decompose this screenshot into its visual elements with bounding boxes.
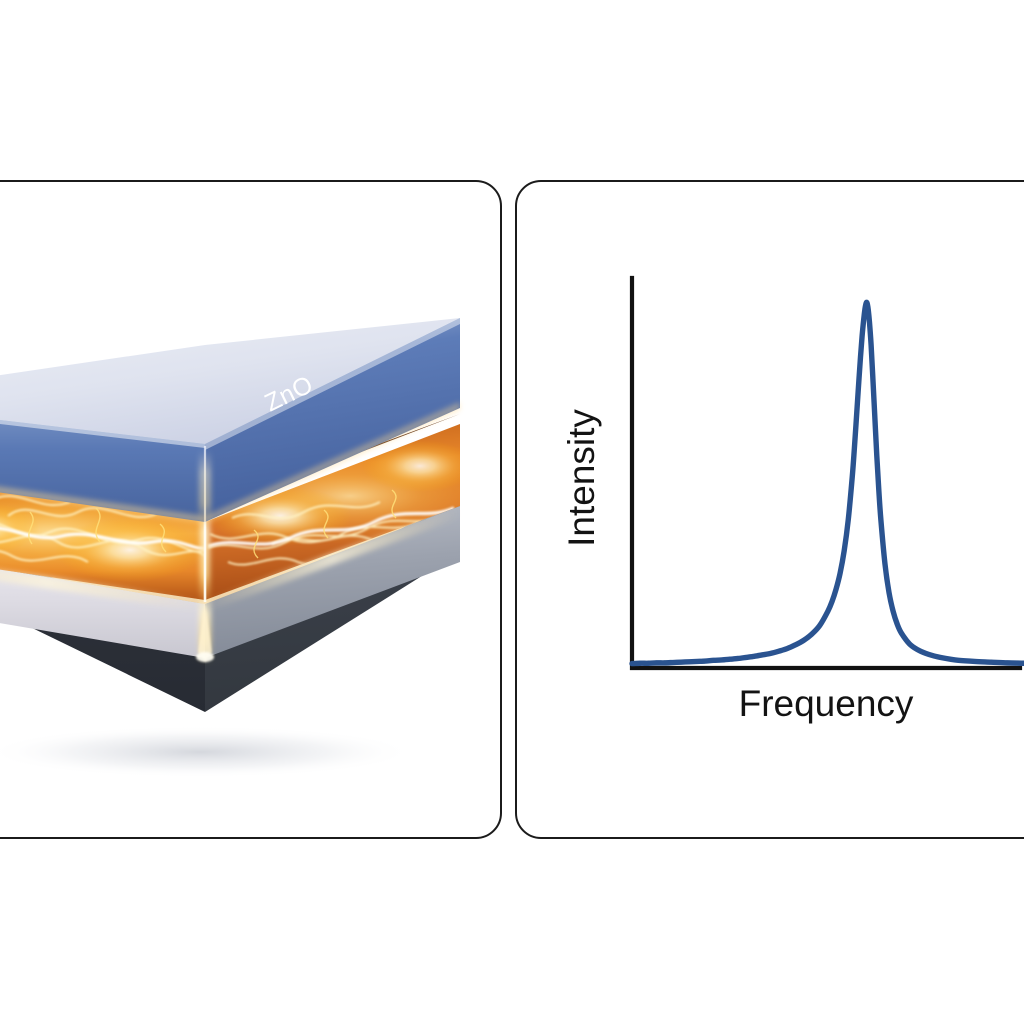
chart-ylabel: Intensity <box>561 409 602 547</box>
stack-floor-shadow <box>0 726 415 778</box>
spectral-chart: Frequency Intensity <box>540 250 1024 770</box>
device-stack-illustration: Si InP/Al3O3 <box>0 300 480 770</box>
chart-xlabel: Frequency <box>739 683 914 724</box>
figure-canvas: Si InP/Al3O3 <box>0 0 1024 1024</box>
spectrum-curve <box>632 302 1024 663</box>
